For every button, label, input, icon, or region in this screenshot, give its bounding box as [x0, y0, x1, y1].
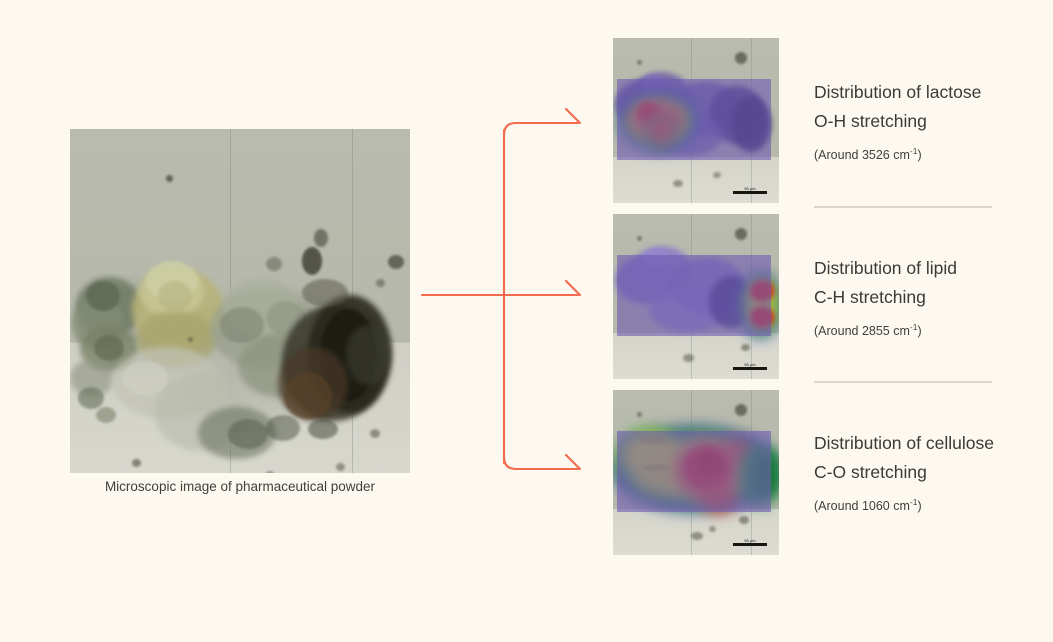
label-title-line2: C-H stretching [814, 283, 1029, 312]
scalebar: 50 µm [733, 538, 767, 546]
debris-speck [166, 175, 173, 182]
particle-tail [228, 419, 268, 449]
particle-texture [302, 279, 348, 307]
arrowhead-mid [566, 281, 580, 295]
particle-tail [308, 419, 338, 439]
debris-speck [302, 247, 322, 275]
connector-branch-bottom [504, 457, 578, 469]
scalebar-bar [733, 191, 767, 194]
debris-speck [637, 236, 642, 241]
debris-speck [691, 532, 703, 540]
particle-tail [266, 415, 300, 441]
debris-speck [188, 337, 193, 342]
wavenumber-close: ) [917, 324, 921, 338]
wavenumber-text: (Around 1060 cm [814, 499, 910, 513]
main-microscopy-image: 50 µm [70, 129, 410, 473]
map-label-lactose: Distribution of lactose O-H stretching (… [814, 78, 1029, 163]
debris-speck [132, 459, 141, 467]
wavenumber-text: (Around 2855 cm [814, 324, 910, 338]
debris-speck [741, 344, 750, 351]
particle-texture [220, 307, 264, 343]
debris-speck [637, 60, 642, 65]
debris-speck [388, 255, 404, 269]
debris-speck [683, 354, 694, 362]
wavenumber-close: ) [917, 148, 921, 162]
map-overlay-band [617, 79, 771, 160]
debris-speck [637, 412, 642, 417]
particle-highlight [122, 361, 168, 395]
label-divider [814, 206, 992, 208]
map-label-cellulose: Distribution of cellulose C-O stretching… [814, 429, 1029, 514]
particle-dark-lobe [346, 325, 390, 385]
debris-speck [314, 229, 328, 247]
label-title-line1: Distribution of lactose [814, 78, 1029, 107]
map-label-lipid: Distribution of lipid C-H stretching (Ar… [814, 254, 1029, 339]
arrowhead-top [566, 109, 580, 123]
particle-lobe [94, 335, 124, 361]
label-title-line2: O-H stretching [814, 107, 1029, 136]
debris-speck [376, 279, 385, 287]
label-title-line1: Distribution of cellulose [814, 429, 1029, 458]
map-overlay-band [617, 255, 771, 336]
label-title-line1: Distribution of lipid [814, 254, 1029, 283]
scalebar: 50 µm [733, 186, 767, 194]
label-wavenumber: (Around 3526 cm-1) [814, 143, 1029, 163]
map-overlay-band [617, 431, 771, 512]
chemical-map-lipid: 50 µm [613, 214, 779, 379]
arrowhead-bottom [566, 455, 580, 469]
debris-speck [336, 463, 345, 471]
scalebar: 50 µm [733, 362, 767, 370]
particle-speck [96, 407, 116, 423]
chemical-map-cellulose: 50 µm [613, 390, 779, 555]
scalebar-bar [733, 543, 767, 546]
figure-canvas: 50 µm Microscopic image of pharmaceutica… [0, 0, 1053, 642]
label-wavenumber: (Around 2855 cm-1) [814, 319, 1029, 339]
particle-lobe [86, 281, 120, 311]
debris-speck [266, 471, 274, 473]
main-image-caption: Microscopic image of pharmaceutical powd… [70, 479, 410, 494]
debris-speck [735, 228, 747, 240]
debris-speck [709, 526, 716, 532]
particle-texture [158, 281, 192, 311]
chemical-map-lactose: 50 µm [613, 38, 779, 203]
label-title-line2: C-O stretching [814, 458, 1029, 487]
label-wavenumber: (Around 1060 cm-1) [814, 494, 1029, 514]
particle-texture [284, 373, 332, 419]
debris-speck [673, 180, 683, 187]
debris-speck [713, 172, 721, 178]
wavenumber-close: ) [917, 499, 921, 513]
debris-speck [735, 52, 747, 64]
label-divider [814, 381, 992, 383]
debris-speck [266, 257, 282, 271]
debris-speck [739, 516, 749, 524]
particle-speck [78, 387, 104, 409]
wavenumber-text: (Around 3526 cm [814, 148, 910, 162]
connector-branch-top [504, 123, 578, 135]
scalebar-bar [733, 367, 767, 370]
arrow-connector [420, 95, 610, 495]
debris-speck [735, 404, 747, 416]
debris-speck [370, 429, 380, 438]
